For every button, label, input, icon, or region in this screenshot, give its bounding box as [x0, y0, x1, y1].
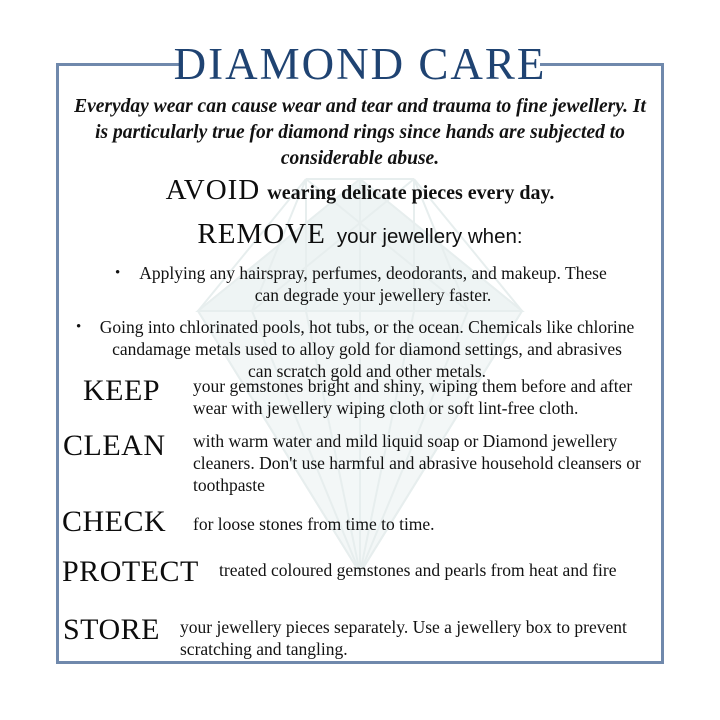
bullet-dot-icon: • [76, 316, 81, 338]
headline-keyword-remove: REMOVE [197, 218, 325, 250]
tip-text-protect: treated coloured gemstones and pearls fr… [219, 556, 664, 581]
tip-text-check: for loose stones from time to time. [193, 506, 664, 535]
headline-remove: REMOVEyour jewellery when: [56, 218, 664, 251]
headline-keyword-avoid: AVOID [166, 174, 261, 206]
tip-keyword-protect: PROTECT [62, 556, 199, 588]
list-item-text: Applying any hairspray, perfumes, deodor… [74, 262, 650, 306]
tip-store: STORE your jewellery pieces separately. … [63, 614, 664, 660]
tip-clean: CLEAN with warm water and mild liquid so… [63, 430, 664, 496]
tip-text-clean: with warm water and mild liquid soap or … [193, 430, 664, 496]
list-item-text: Going into chlorinated pools, hot tubs, … [74, 316, 650, 382]
tip-text-keep: your gemstones bright and shiny, wiping … [193, 375, 664, 419]
headline-avoid: AVOIDwearing delicate pieces every day. [56, 174, 664, 207]
tip-check: CHECK for loose stones from time to time… [62, 506, 664, 535]
poster-content: DIAMOND CARE Everyday wear can cause wea… [56, 63, 664, 664]
headline-text-remove: your jewellery when: [326, 225, 523, 248]
tip-keyword-store: STORE [63, 614, 160, 646]
tip-keyword-clean: CLEAN [63, 430, 166, 462]
intro-paragraph: Everyday wear can cause wear and tear an… [70, 94, 650, 172]
tip-keep: KEEP your gemstones bright and shiny, wi… [83, 375, 664, 419]
headline-text-avoid: wearing delicate pieces every day. [260, 182, 554, 204]
tip-text-store: your jewellery pieces separately. Use a … [180, 614, 664, 660]
list-item: • Going into chlorinated pools, hot tubs… [74, 316, 650, 382]
remove-bullet-list: • Applying any hairspray, perfumes, deod… [74, 262, 650, 382]
list-item: • Applying any hairspray, perfumes, deod… [74, 262, 650, 306]
tip-keyword-keep: KEEP [83, 375, 160, 407]
diamond-care-poster: DIAMOND CARE Everyday wear can cause wea… [0, 0, 720, 720]
page-title: DIAMOND CARE [56, 40, 664, 88]
bullet-dot-icon: • [115, 262, 120, 284]
tip-protect: PROTECT treated coloured gemstones and p… [62, 556, 664, 581]
tip-keyword-check: CHECK [62, 506, 166, 538]
